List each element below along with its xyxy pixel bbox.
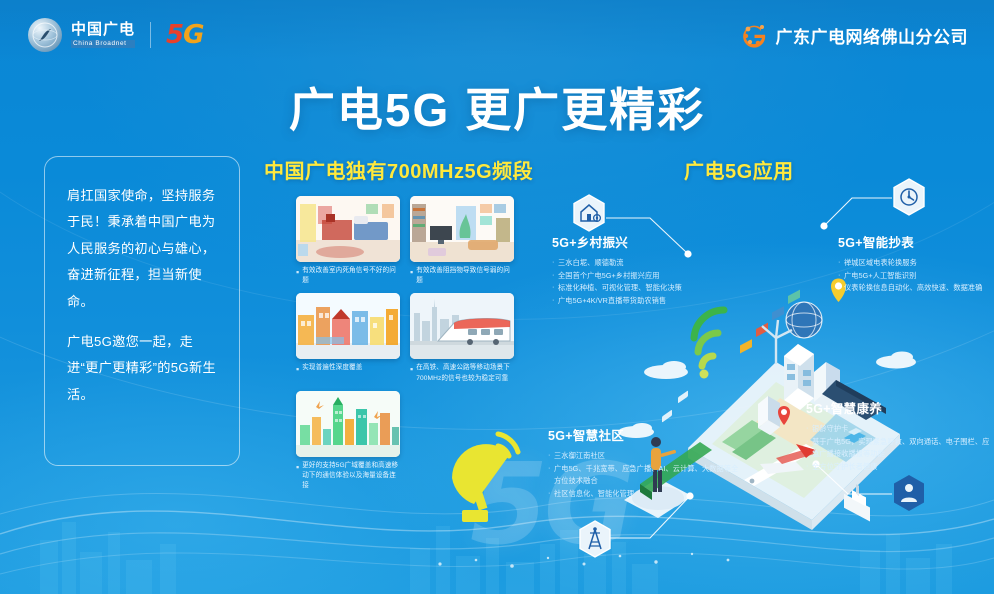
band-grid-row: ▪ 实现普遍性深度覆盖 bbox=[296, 293, 528, 383]
app-block-community: 5G+智慧社区 三水御江南社区 广电5G、千兆宽带、应急广播、AI、云计算、大数… bbox=[548, 425, 740, 500]
app-bullet: 广电5G+人工智能识别 bbox=[838, 270, 990, 283]
band-caption-text: 有效改善室内死角信号不好的问题 bbox=[302, 266, 400, 286]
app-bullet-list: 银龄守护卡 基于广电5G，实现紧急呼救、双向通话、电子围栏、应急广播接收播报等功… bbox=[806, 423, 992, 473]
band-grid-cell: ▪ 有效改善室内死角信号不好的问题 bbox=[296, 196, 400, 286]
band-caption: ▪ 实现普遍性深度覆盖 bbox=[296, 363, 400, 376]
band-caption: ▪ 在高铁、高速公路等移动场景下700MHz的信号也较为稳定可靠 bbox=[410, 363, 514, 383]
company-name: 广东广电网络佛山分公司 bbox=[776, 23, 969, 48]
band-grid-cell: ▪ 实现普遍性深度覆盖 bbox=[296, 293, 400, 383]
band-caption: ▪ 更好的支持5G广域覆盖和高速移动下的通信体验以及海量设备连接 bbox=[296, 461, 400, 492]
intro-paragraph-2: 广电5G邀您一起，走进“更广更精彩”的5G新生活。 bbox=[67, 329, 219, 408]
bullet-dot-icon: ▪ bbox=[296, 363, 299, 376]
app-bullet: 三水御江南社区 bbox=[548, 450, 740, 463]
poster-canvas: 5G 中国广电 China Broadnet 5G bbox=[0, 0, 994, 594]
app-bullet: 基于广电5G，实现紧急呼救、双向通话、电子围栏、应急广播接收播报等功能 bbox=[806, 436, 992, 461]
high-speed-train-illustration bbox=[410, 293, 514, 359]
band-caption-text: 实现普遍性深度覆盖 bbox=[302, 363, 362, 376]
brand-name-cn: 中国广电 bbox=[71, 22, 135, 37]
china-broadnet-globe-icon bbox=[28, 18, 62, 52]
health-person-hex-icon bbox=[892, 474, 926, 512]
app-bullet-list: 禅城区域电表轮换服务 广电5G+人工智能识别 仪表轮换信息自动化、高效快速、数据… bbox=[838, 257, 990, 295]
app-title: 5G+智慧康养 bbox=[806, 398, 992, 417]
app-title: 5G+乡村振兴 bbox=[552, 232, 730, 251]
intro-card: 肩扛国家使命，坚持服务于民！秉承着中国广电为人民服务的初心与雄心，奋进新征程，担… bbox=[44, 156, 240, 466]
app-title: 5G+智慧社区 bbox=[548, 425, 740, 444]
guangdong-broadnet-logo: 广东广电网络佛山分公司 bbox=[741, 22, 969, 48]
app-bullet-list: 三水白坭、顺德勒流 全国首个广电5G+乡村振兴应用 标准化种植、可视化管理、智能… bbox=[552, 257, 730, 307]
app-bullet-list: 三水御江南社区 广电5G、千兆宽带、应急广播、AI、云计算、大数据等全方位技术融… bbox=[548, 450, 740, 500]
band-grid-cell: ▪ 更好的支持5G广域覆盖和高速移动下的通信体验以及海量设备连接 bbox=[296, 391, 400, 492]
app-bullet: 广电5G+4K/VR直播带货助农销售 bbox=[552, 295, 730, 308]
app-title: 5G+智能抄表 bbox=[838, 232, 990, 251]
app-bullet: 银龄守护卡 bbox=[806, 423, 992, 436]
band-grid-cell: ▪ 有效改善阻挡物导致信号弱的问题 bbox=[410, 196, 514, 286]
bullet-dot-icon: ▪ bbox=[296, 461, 299, 492]
app-bullet: 三水白坭、顺德勒流 bbox=[552, 257, 730, 270]
band-caption: ▪ 有效改善室内死角信号不好的问题 bbox=[296, 266, 400, 286]
app-bullet: 标准化种植、可视化管理、智能化决策 bbox=[552, 282, 730, 295]
5g-badge-letter: G bbox=[183, 20, 203, 50]
band-section-heading: 中国广电独有700MHz5G频段 bbox=[264, 155, 533, 184]
house-location-hex-icon bbox=[572, 194, 606, 232]
app-block-health: 5G+智慧康养 银龄守护卡 基于广电5G，实现紧急呼救、双向通话、电子围栏、应急… bbox=[806, 398, 992, 473]
logo-divider bbox=[150, 22, 151, 48]
app-bullet: 仪表轮换信息自动化、高效快速、数据准确 bbox=[838, 282, 990, 295]
page-title: 广电5G 更广更精彩 bbox=[0, 74, 994, 140]
bedroom-interior-illustration bbox=[296, 196, 400, 262]
band-grid-row: ▪ 有效改善室内死角信号不好的问题 bbox=[296, 196, 528, 286]
guangdong-broadnet-g-icon bbox=[741, 22, 767, 48]
broadcast-tower-hex-icon bbox=[578, 520, 612, 558]
app-bullet: 禅城区域电表轮换服务 bbox=[838, 257, 990, 270]
band-caption-text: 在高铁、高速公路等移动场景下700MHz的信号也较为稳定可靠 bbox=[416, 363, 514, 383]
living-room-interior-illustration bbox=[410, 196, 514, 262]
bullet-dot-icon: ▪ bbox=[296, 266, 299, 286]
app-block-meter: 5G+智能抄表 禅城区域电表轮换服务 广电5G+人工智能识别 仪表轮换信息自动化… bbox=[838, 232, 990, 295]
band-grid-cell: ▪ 在高铁、高速公路等移动场景下700MHz的信号也较为稳定可靠 bbox=[410, 293, 514, 383]
app-block-rural: 5G+乡村振兴 三水白坭、顺德勒流 全国首个广电5G+乡村振兴应用 标准化种植、… bbox=[552, 232, 730, 307]
5g-badge-icon: 5G bbox=[166, 20, 203, 50]
app-bullet: 社区信息化、智能化管理 bbox=[548, 488, 740, 501]
satellite-dish-icon bbox=[424, 418, 544, 543]
app-bullet: 全方位守护长者健康 bbox=[806, 461, 992, 474]
band-caption-text: 更好的支持5G广域覆盖和高速移动下的通信体验以及海量设备连接 bbox=[302, 461, 400, 492]
brand-name-en: China Broadnet bbox=[71, 40, 135, 49]
bullet-dot-icon: ▪ bbox=[410, 363, 413, 383]
china-broadnet-wordmark: 中国广电 China Broadnet bbox=[71, 22, 135, 49]
app-bullet: 全国首个广电5G+乡村振兴应用 bbox=[552, 270, 730, 283]
band-caption-text: 有效改善阻挡物导致信号弱的问题 bbox=[416, 266, 514, 286]
apps-section-heading: 广电5G应用 bbox=[684, 155, 794, 184]
village-township-illustration bbox=[296, 293, 400, 359]
city-skyline-illustration bbox=[296, 391, 400, 457]
intro-paragraph-1: 肩扛国家使命，坚持服务于民！秉承着中国广电为人民服务的初心与雄心，奋进新征程，担… bbox=[67, 183, 219, 315]
bullet-dot-icon: ▪ bbox=[410, 266, 413, 286]
5g-badge-digit: 5 bbox=[166, 20, 183, 50]
meter-gauge-hex-icon bbox=[892, 178, 926, 216]
app-bullet: 广电5G、千兆宽带、应急广播、AI、云计算、大数据等全方位技术融合 bbox=[548, 463, 740, 488]
band-caption: ▪ 有效改善阻挡物导致信号弱的问题 bbox=[410, 266, 514, 286]
china-broadnet-logo: 中国广电 China Broadnet 5G bbox=[28, 18, 203, 52]
